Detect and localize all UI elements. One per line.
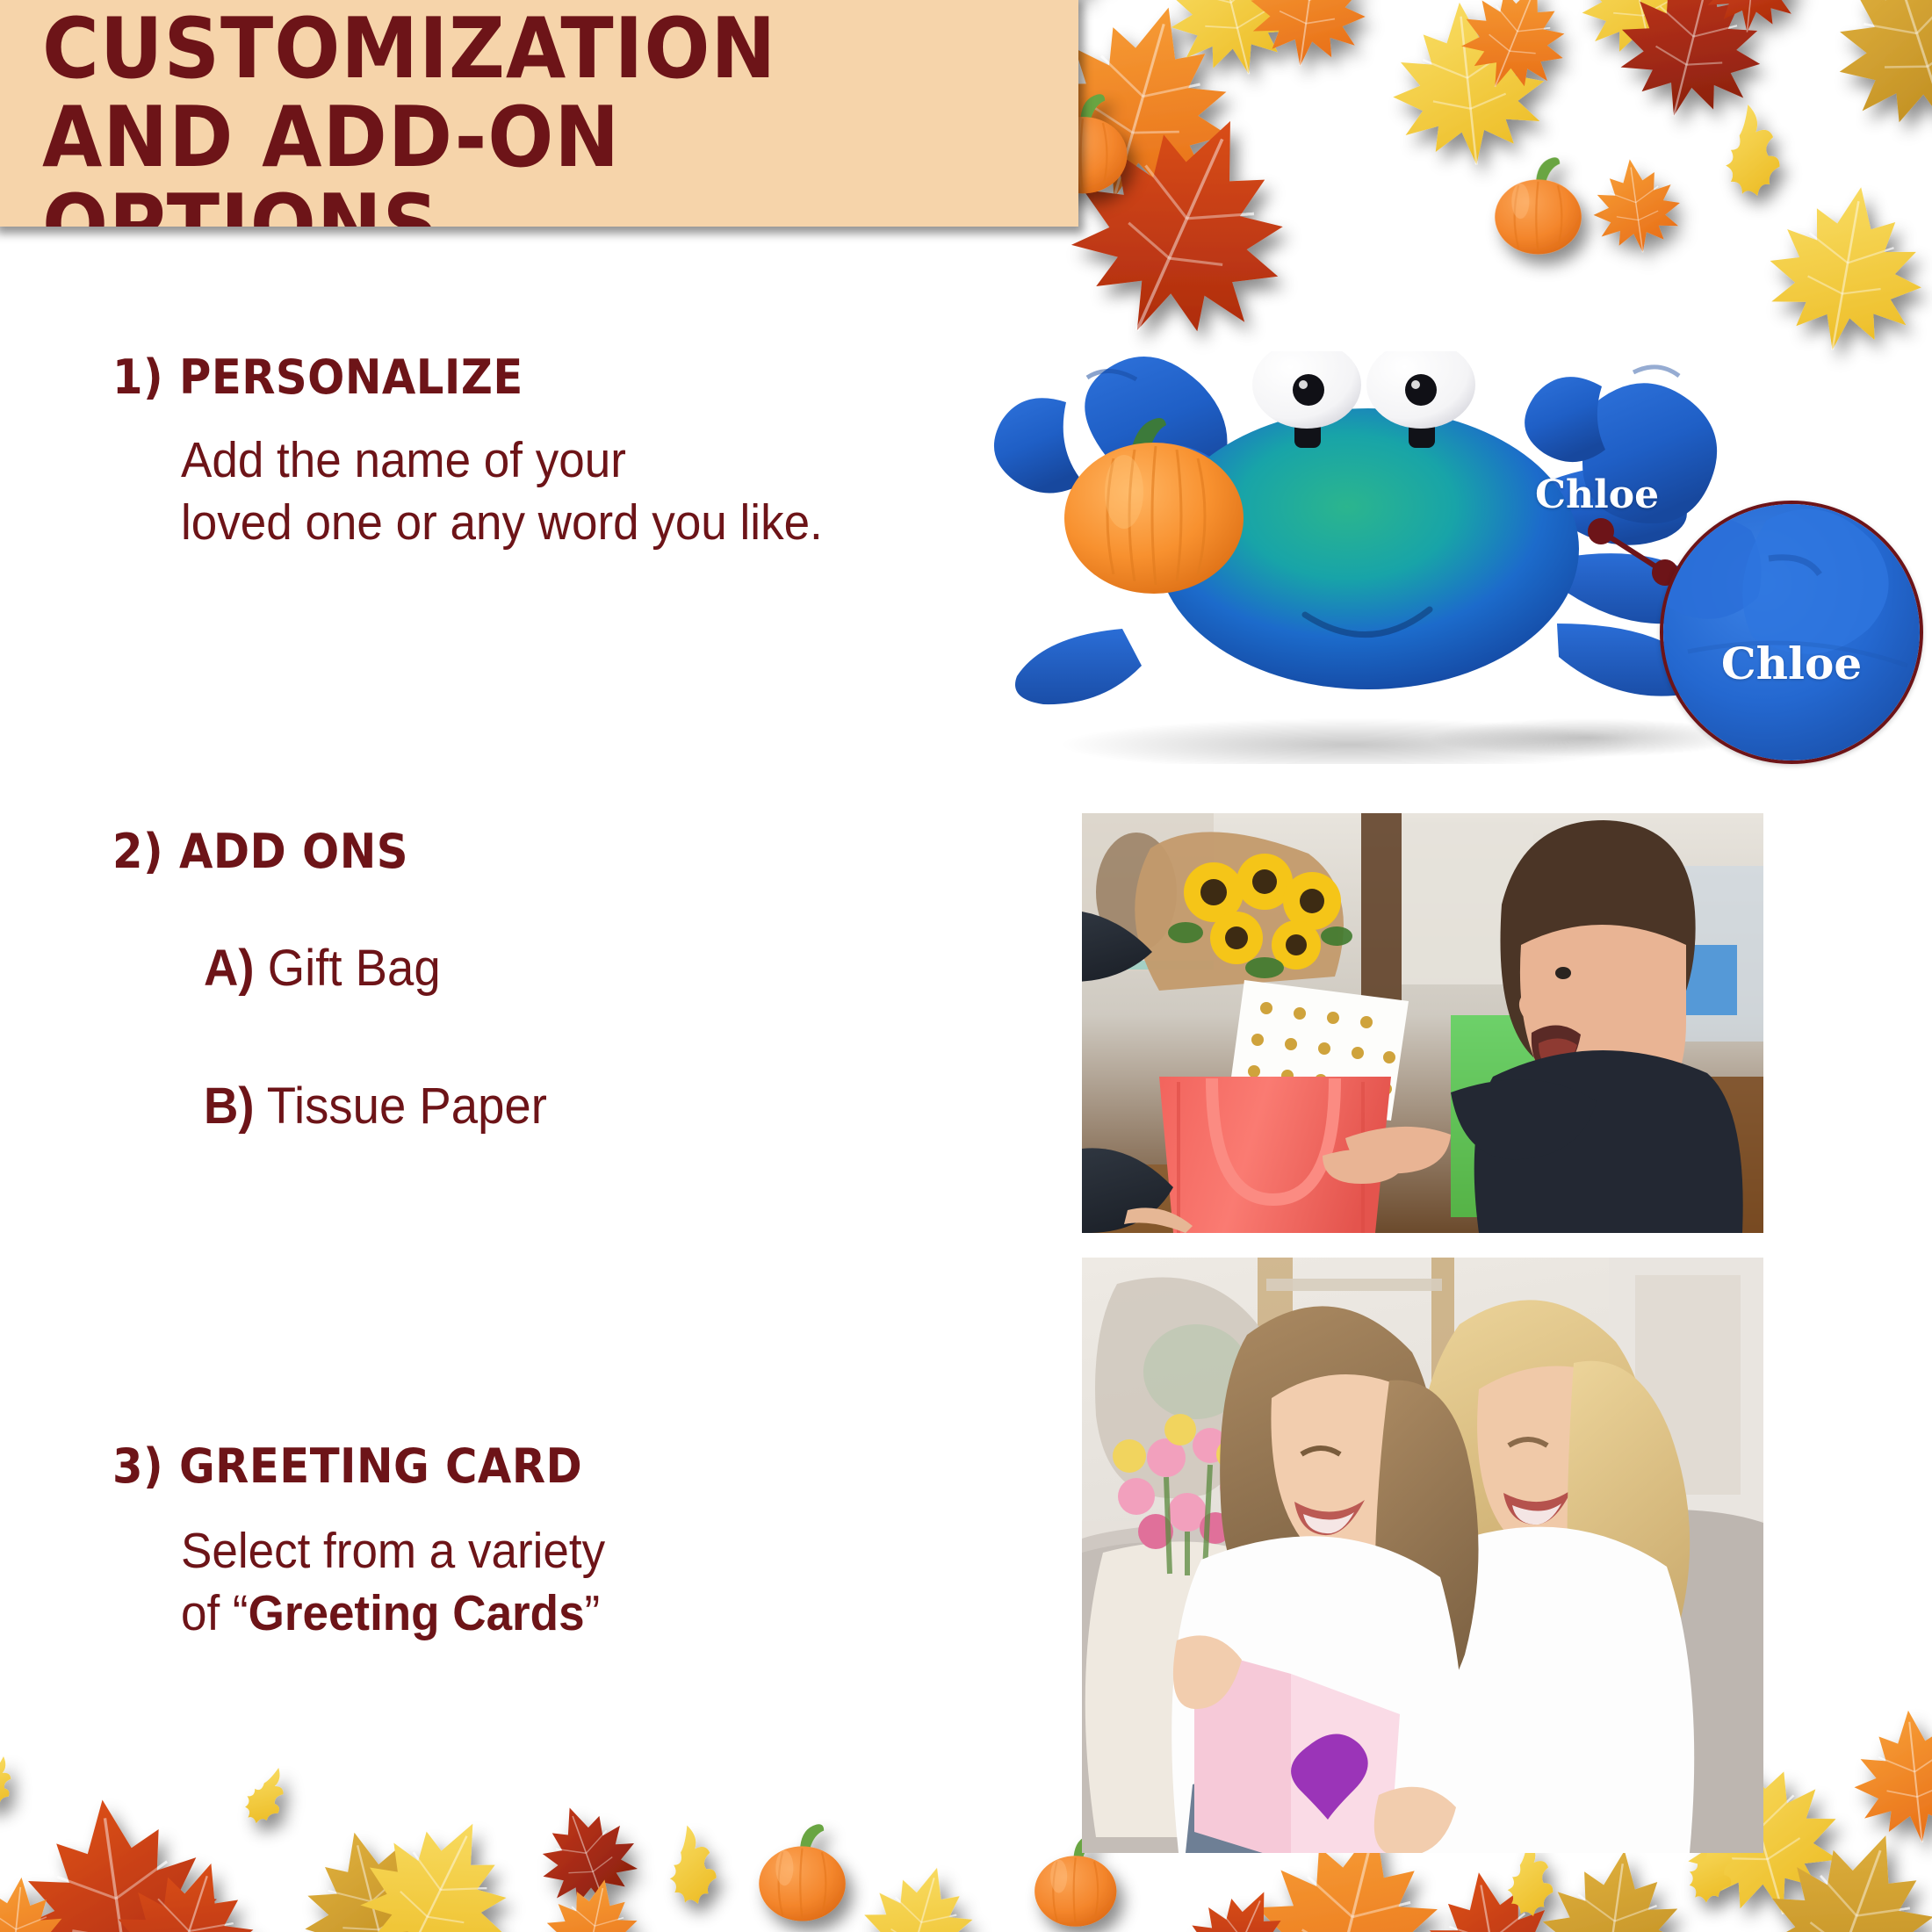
header-banner: CUSTOMIZATION AND ADD-ON OPTIONS [0, 0, 1078, 227]
step-3-body-emphasis: Greeting Cards [249, 1585, 585, 1641]
step-2-heading: 2) ADD ONS [112, 824, 532, 879]
add-ons-list: A) Gift Bag B) Tissue Paper [204, 939, 569, 1135]
claw-zoom-illustration [1663, 504, 1923, 764]
add-on-label-gift-bag: Gift Bag [268, 940, 441, 997]
maple-leaf-icon [0, 1752, 991, 1932]
claw-personalization-label: Chloe [1535, 472, 1659, 517]
step-3-body: Select from a variety of “Greeting Cards… [181, 1520, 605, 1646]
greeting-card-photo-illustration [1082, 1258, 1763, 1853]
step-personalize: 1) PERSONALIZE Add the name of your love… [112, 350, 871, 555]
pumpkin-icon [759, 1824, 1116, 1926]
step-1-body: Add the name of your loved one or any wo… [181, 429, 823, 555]
greeting-card-photo [1082, 1258, 1763, 1853]
claw-zoom-callout: Chloe [1660, 501, 1923, 764]
pumpkin-icon [1038, 94, 1582, 386]
add-on-marker-b: B) [204, 1078, 255, 1135]
claw-zoom-label: Chloe [1663, 638, 1920, 689]
step-greeting-card: 3) GREETING CARD Select from a variety o… [112, 1438, 638, 1646]
add-on-label-tissue-paper: Tissue Paper [267, 1078, 547, 1135]
add-on-marker-a: A) [204, 940, 255, 997]
maple-leaf-icon [1003, 0, 1932, 374]
step-3-body-suffix: ” [585, 1585, 601, 1641]
gift-bag-photo [1082, 813, 1763, 1233]
gift-bag-photo-illustration [1082, 813, 1763, 1233]
list-item-gift-bag: A) Gift Bag [204, 939, 547, 998]
list-item-tissue-paper: B) Tissue Paper [204, 1077, 547, 1135]
step-add-ons: 2) ADD ONS A) Gift Bag B) Tissue Paper [112, 824, 569, 1135]
step-3-heading: 3) GREETING CARD [112, 1438, 595, 1494]
step-1-heading: 1) PERSONALIZE [112, 350, 811, 405]
page-title: CUSTOMIZATION AND ADD-ON OPTIONS [42, 5, 998, 227]
